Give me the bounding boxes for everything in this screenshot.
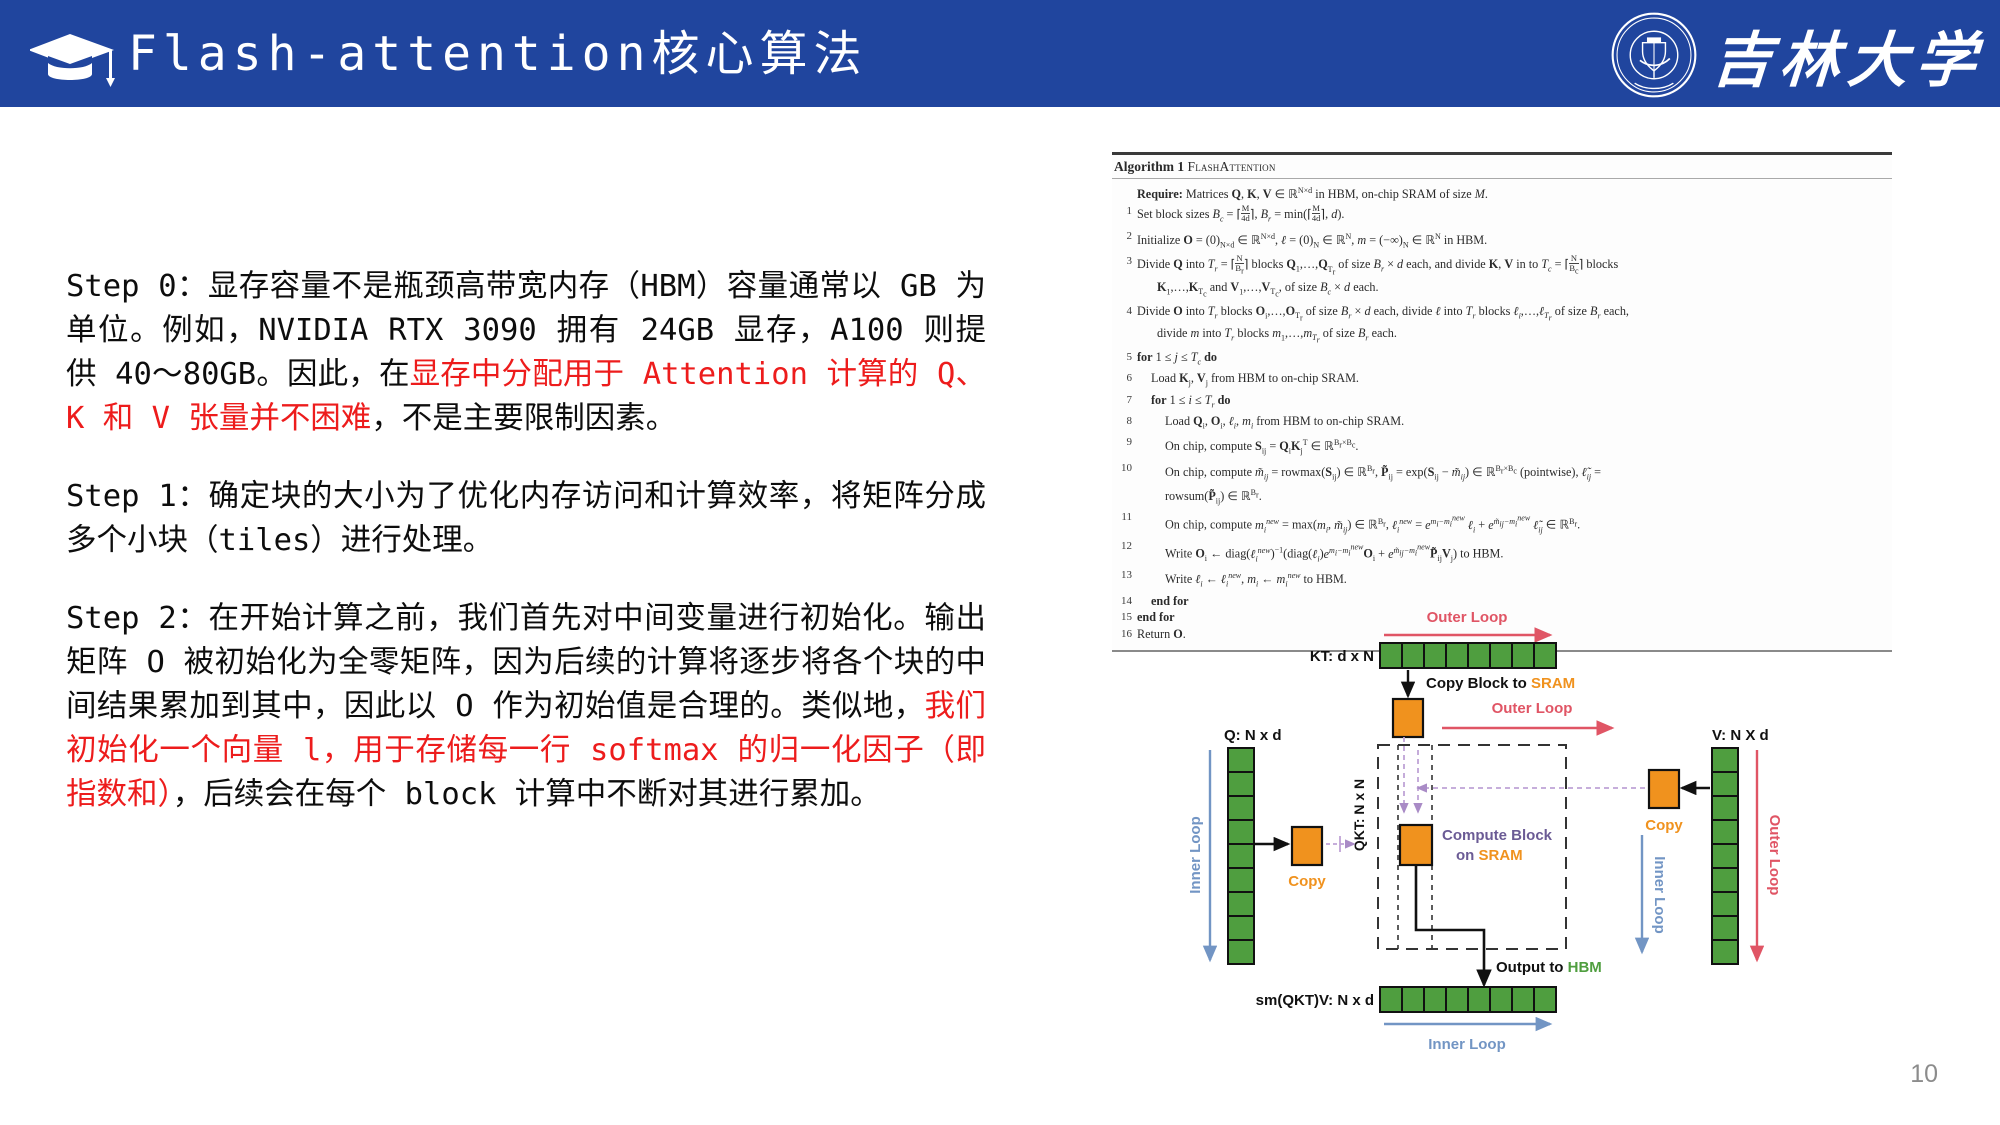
algorithm-line-10: 10 On chip, compute m̃ij = rowmax(Sij) ∈… (1114, 461, 1886, 509)
outer-loop-top-arrow: Outer Loop (1384, 609, 1550, 635)
algorithm-line-number: 10 (1114, 461, 1137, 476)
algorithm-require-text: Require: Matrices Q, K, V ∈ ℝN×d in HBM,… (1137, 183, 1886, 202)
algorithm-line-number: 11 (1114, 510, 1137, 525)
v-inner-loop-arrow: Inner Loop (1642, 835, 1668, 952)
outer-loop-middle-arrow: Outer Loop (1442, 700, 1612, 728)
output-path-arrow: Output to HBM (1416, 866, 1602, 985)
step2-run-2: ，后续会在每个 block 计算中不断对其进行累加。 (173, 777, 881, 812)
algorithm-title-name: FlashAttention (1188, 159, 1276, 174)
algorithm-line-text: Load Qi, Oi, ℓi, mi from HBM to on-chip … (1137, 414, 1886, 434)
algorithm-line-4: 4 Divide O into Tr blocks Oi,…,OTr of si… (1114, 304, 1886, 349)
q-sram-copy-block (1292, 827, 1322, 865)
compute-block-label-line2: on SRAM (1456, 847, 1523, 864)
algorithm-line-number: 4 (1114, 304, 1137, 319)
v-outer-loop-arrow: Outer Loop (1757, 750, 1783, 960)
algorithm-title-number: Algorithm 1 (1114, 159, 1184, 174)
university-name: 吉林大学 (1709, 12, 1987, 99)
paragraph-step1: Step 1：确定块的大小为了优化内存访问和计算效率，将矩阵分成多个小块（til… (66, 475, 986, 563)
output-inner-loop-label: Inner Loop (1428, 1036, 1506, 1053)
algorithm-line-13: 13 Write ℓi ← ℓinew, mi ← minew to HBM. (1114, 568, 1886, 592)
compute-block-label-line1: Compute Block (1442, 827, 1553, 844)
copy-block-to-sram-label: Copy Block to SRAM (1426, 675, 1575, 692)
paragraph-step0: Step 0：显存容量不是瓶颈高带宽内存（HBM）容量通常以 GB 为单位。例如… (66, 265, 986, 441)
step0-run-2: ，不是主要限制因素。 (371, 401, 676, 436)
algorithm-body: Require: Matrices Q, K, V ∈ ℝN×d in HBM,… (1112, 179, 1892, 650)
output-matrix-blocks: sm(QKT)V: N x d (1256, 987, 1556, 1012)
output-to-hbm-label: Output to HBM (1496, 959, 1602, 976)
slide-body-text: Step 0：显存容量不是瓶颈高带宽内存（HBM）容量通常以 GB 为单位。例如… (66, 265, 986, 817)
algorithm-line-5: 5 for 1 ≤ j ≤ Tc do (1114, 350, 1886, 370)
algorithm-line-number: 8 (1114, 414, 1137, 429)
algorithm-line-text: Write ℓi ← ℓinew, mi ← minew to HBM. (1137, 568, 1886, 592)
step2-run-0: Step 2：在开始计算之前，我们首先对中间变量进行初始化。输出矩阵 O 被初始… (66, 601, 986, 724)
university-logo: 吉林大学 (1564, 8, 1984, 102)
algorithm-line-number: 6 (1114, 371, 1137, 386)
v-label: V: N X d (1712, 727, 1769, 744)
algorithm-line-number: 1 (1114, 204, 1137, 219)
algorithm-line-number: 5 (1114, 350, 1137, 365)
q-label: Q: N x d (1224, 727, 1282, 744)
algorithm-line-number: 12 (1114, 539, 1137, 554)
kt-sram-copy-block (1393, 699, 1423, 737)
algorithm-line-text: Initialize O = (0)N×d ∈ ℝN×d, ℓ = (0)N ∈… (1137, 229, 1886, 253)
algorithm-line-text: On chip, compute m̃ij = rowmax(Sij) ∈ ℝB… (1137, 461, 1886, 509)
step1-run-0: Step 1：确定块的大小为了优化内存访问和计算效率，将矩阵分成多个小块（til… (66, 479, 986, 558)
algorithm-line-1: 1 Set block sizes Bc = ⌈M4d⌉, Br = min(⌈… (1114, 204, 1886, 227)
algorithm-line-3: 3 Divide Q into Tr = ⌈NBr⌉ blocks Q1,…,Q… (1114, 254, 1886, 302)
algorithm-line-11: 11 On chip, compute minew = max(mi, m̃ij… (1114, 510, 1886, 538)
algorithm-line-text: On chip, compute minew = max(mi, m̃ij) ∈… (1137, 510, 1886, 538)
q-matrix-blocks: Q: N x d (1224, 727, 1282, 964)
q-copy-label: Copy (1288, 873, 1326, 890)
algorithm-line-text: Divide Q into Tr = ⌈NBr⌉ blocks Q1,…,QTr… (1137, 254, 1886, 302)
algorithm-line-text: for 1 ≤ j ≤ Tc do (1137, 350, 1886, 370)
paragraph-step2: Step 2：在开始计算之前，我们首先对中间变量进行初始化。输出矩阵 O 被初始… (66, 597, 986, 817)
compute-block-group: Compute Block on SRAM (1400, 825, 1553, 865)
v-outer-loop-label: Outer Loop (1766, 815, 1783, 896)
v-inner-loop-label: Inner Loop (1651, 856, 1668, 934)
algorithm-line-12: 12 Write Oi ← diag(ℓinew)−1(diag(ℓi)emi−… (1114, 539, 1886, 567)
compute-feed-arrows (1404, 737, 1672, 812)
algorithm-line-2: 2 Initialize O = (0)N×d ∈ ℝN×d, ℓ = (0)N… (1114, 229, 1886, 253)
algorithm-line-text: for 1 ≤ i ≤ Tr do (1137, 393, 1886, 413)
algorithm-line-number: 3 (1114, 254, 1137, 269)
v-sram-copy-block (1649, 770, 1679, 808)
kt-label: KT: d x N (1310, 648, 1374, 665)
q-inner-loop-label: Inner Loop (1187, 816, 1204, 894)
algorithm-line-number: 9 (1114, 435, 1137, 450)
outer-loop-middle-label: Outer Loop (1492, 700, 1573, 717)
algorithm-require-label: Require: (1137, 187, 1183, 201)
algorithm-line-8: 8 Load Qi, Oi, ℓi, mi from HBM to on-chi… (1114, 414, 1886, 434)
page-title: Flash-attention核心算法 (128, 18, 867, 90)
output-inner-loop-arrow: Inner Loop (1384, 1024, 1550, 1053)
graduation-cap-icon (30, 30, 122, 88)
output-label: sm(QKT)V: N x d (1256, 992, 1374, 1009)
algorithm-line-text: Write Oi ← diag(ℓinew)−1(diag(ℓi)emi−min… (1137, 539, 1886, 567)
q-copy-arrow: Copy (1255, 827, 1354, 890)
algorithm-line-6: 6 Load Kj, Vj from HBM to on-chip SRAM. (1114, 371, 1886, 391)
algorithm-line-text: Set block sizes Bc = ⌈M4d⌉, Br = min(⌈M4… (1137, 204, 1886, 227)
kt-matrix-blocks: KT: d x N (1310, 643, 1556, 668)
algorithm-line-text: On chip, compute Sij = QiKjT ∈ ℝBr×Bc. (1137, 435, 1886, 459)
algorithm-figure: Algorithm 1 FlashAttention Require: Matr… (1112, 152, 1892, 652)
compute-sram-block (1400, 825, 1432, 865)
algorithm-line-text: Load Kj, Vj from HBM to on-chip SRAM. (1137, 371, 1886, 391)
algorithm-line-number: 2 (1114, 229, 1137, 244)
q-inner-loop-arrow: Inner Loop (1187, 750, 1210, 960)
page-number: 10 (1910, 1060, 1938, 1089)
flashattention-diagram: Outer Loop KT: d x N Copy Block to SRAM … (1112, 600, 1892, 1060)
algorithm-line-number: 13 (1114, 568, 1137, 583)
algorithm-title: Algorithm 1 FlashAttention (1112, 155, 1892, 179)
university-seal-icon (1610, 11, 1698, 99)
algorithm-line-number: 7 (1114, 393, 1137, 408)
slide-header-bar: Flash-attention核心算法 吉林大学 (0, 0, 2000, 107)
algorithm-line-text: Divide O into Tr blocks Oi,…,OTr of size… (1137, 304, 1886, 349)
qkt-label: QKT: N x N (1351, 779, 1367, 851)
algorithm-line-9: 9 On chip, compute Sij = QiKjT ∈ ℝBr×Bc. (1114, 435, 1886, 459)
algorithm-require-line: Require: Matrices Q, K, V ∈ ℝN×d in HBM,… (1114, 183, 1886, 202)
algorithm-line-7: 7 for 1 ≤ i ≤ Tr do (1114, 393, 1886, 413)
v-matrix-blocks: V: N X d (1712, 727, 1769, 964)
v-copy-label: Copy (1645, 817, 1683, 834)
v-copy-arrow: Copy (1645, 770, 1710, 834)
outer-loop-top-label: Outer Loop (1427, 609, 1508, 626)
